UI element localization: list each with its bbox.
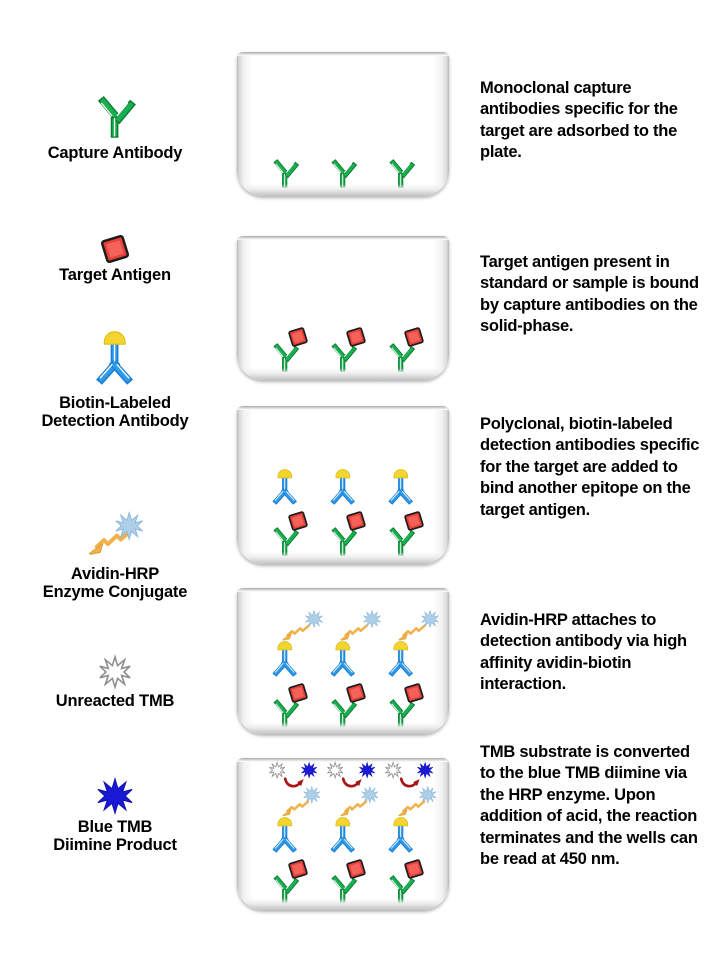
legend-item-target-antigen: Target Antigen: [0, 228, 230, 284]
legend-label-target-antigen: Target Antigen: [0, 266, 230, 284]
legend-item-capture-antibody: Capture Antibody: [0, 78, 230, 162]
legend-label-blue-tmb-diimine: Blue TMB Diimine Product: [0, 818, 230, 855]
well-contents: [237, 236, 449, 380]
step-description-5: TMB substrate is converted to the blue T…: [480, 742, 708, 871]
well-contents: [237, 406, 449, 564]
red-square-antigen-icon: [0, 228, 230, 262]
well-step-2-antigen: [237, 236, 449, 380]
well-contents: [237, 52, 449, 196]
green-y-antibody-icon: [0, 78, 230, 140]
legend-item-avidin-hrp: Avidin-HRP Enzyme Conjugate: [0, 505, 230, 602]
legend-item-unreacted-tmb: Unreacted TMB: [0, 648, 230, 710]
step-description-2: Target antigen present in standard or sa…: [480, 252, 708, 338]
elisa-diagram: Capture Antibody Target Antigen Biotin-L…: [0, 0, 720, 960]
legend-item-detection-antibody: Biotin-Labeled Detection Antibody: [0, 330, 230, 431]
legend-label-detection-antibody: Biotin-Labeled Detection Antibody: [0, 394, 230, 431]
legend-item-blue-tmb-diimine: Blue TMB Diimine Product: [0, 772, 230, 855]
legend-label-avidin-hrp: Avidin-HRP Enzyme Conjugate: [0, 565, 230, 602]
well-step-3-detection: [237, 406, 449, 564]
legend-label-capture-antibody: Capture Antibody: [0, 144, 230, 162]
step-description-4: Avidin-HRP attaches to detection antibod…: [480, 610, 708, 696]
well-step-5-tmb: [237, 758, 449, 910]
blue-biotin-antibody-icon: [0, 330, 230, 390]
well-contents: [237, 758, 449, 910]
blue-starburst-icon: [0, 772, 230, 814]
white-starburst-icon: [0, 648, 230, 688]
legend-label-unreacted-tmb: Unreacted TMB: [0, 692, 230, 710]
step-description-3: Polyclonal, biotin-labeled detection ant…: [480, 414, 708, 521]
step-description-1: Monoclonal capture antibodies specific f…: [480, 78, 708, 164]
well-step-4-avidin-hrp: [237, 588, 449, 734]
well-step-1-capture: [237, 52, 449, 196]
well-contents: [237, 588, 449, 734]
orange-arrow-starburst-icon: [0, 505, 230, 561]
